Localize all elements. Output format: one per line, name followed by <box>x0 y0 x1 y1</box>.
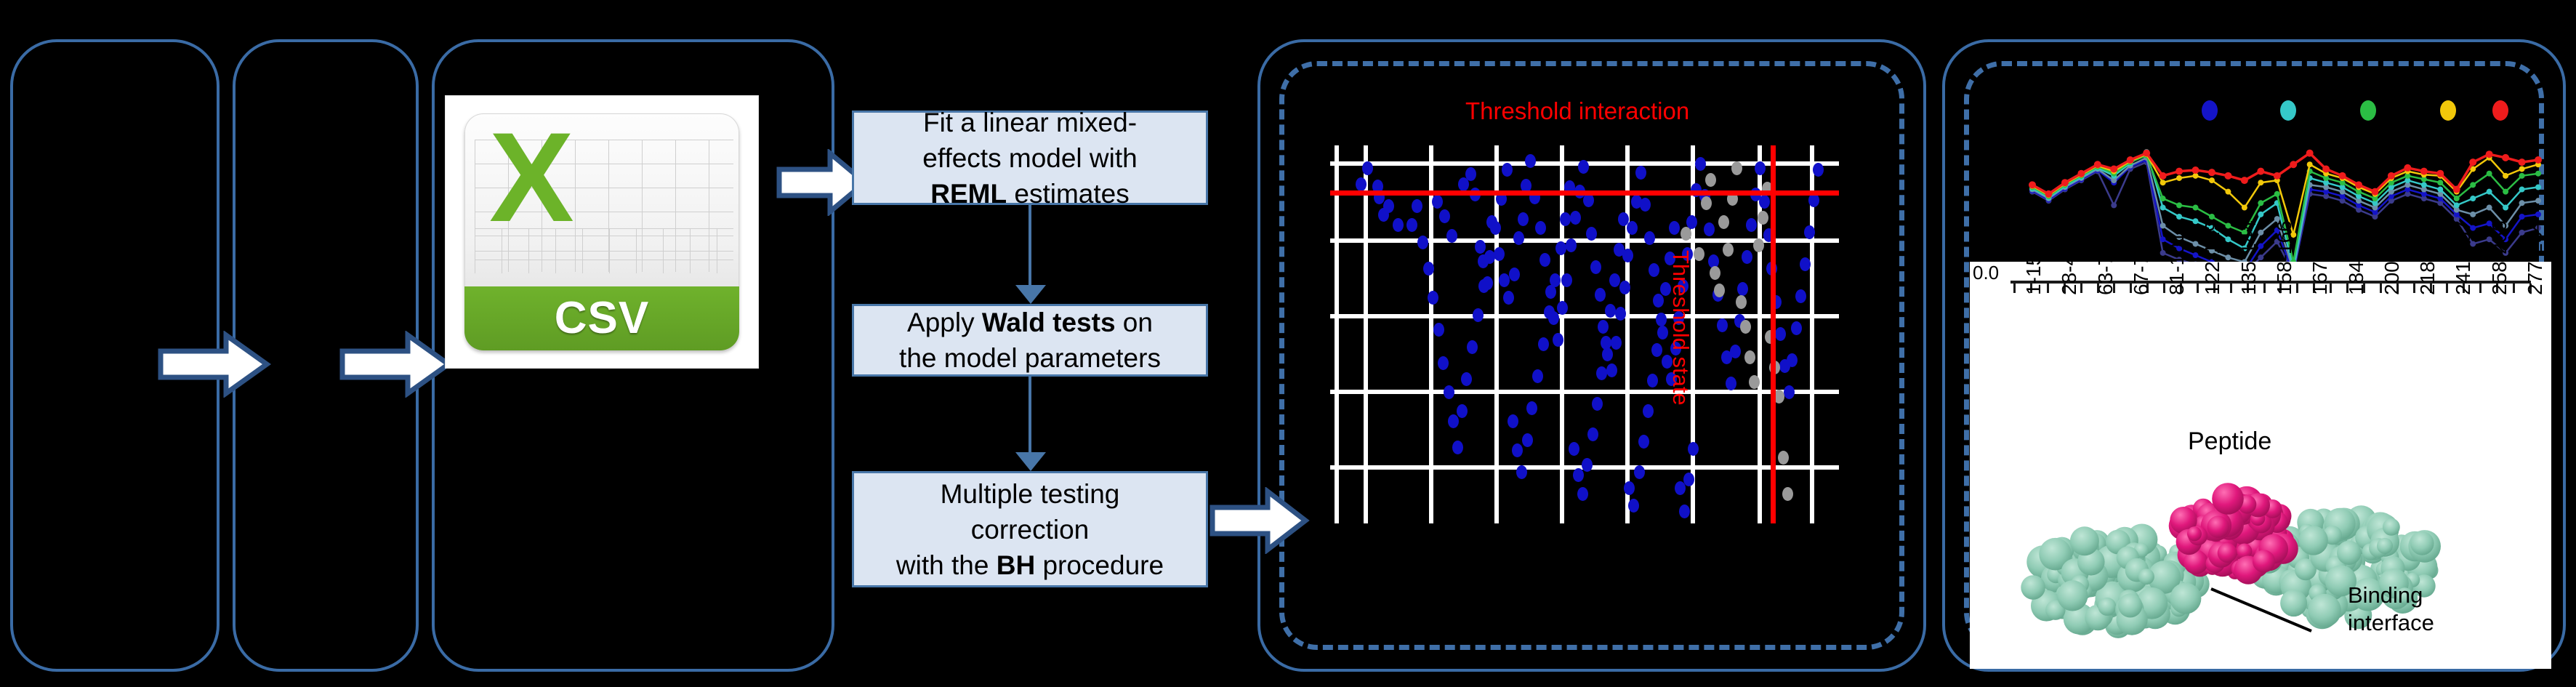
peptide-marker-red-22 <box>2388 172 2395 180</box>
scatter-point-blue-55 <box>1657 326 1668 340</box>
peptide-marker-red-13 <box>2241 177 2248 184</box>
peptide-marker-green-25 <box>2437 180 2443 185</box>
scatter-point-blue-120 <box>1550 273 1561 287</box>
peptide-marker-red-10 <box>2192 166 2199 174</box>
scatter-point-blue-74 <box>1737 282 1748 296</box>
scatter-point-blue-135 <box>1618 212 1629 226</box>
peptide-marker-red-9 <box>2175 168 2183 175</box>
scatter-point-blue-102 <box>1452 441 1463 454</box>
mt-line-2: correction <box>971 515 1089 545</box>
scatter-point-blue-89 <box>1800 257 1811 271</box>
peptide-marker-green-9 <box>2176 202 2182 208</box>
peptide-xlabel-13: 258-266 <box>2488 220 2511 295</box>
scatter-point-blue-54 <box>1653 294 1664 308</box>
scatter-point-grey-12 <box>1744 350 1755 364</box>
fit-model-line-1: Fit a linear mixed- <box>923 108 1137 137</box>
scatter-point-blue-113 <box>1512 443 1523 457</box>
peptide-tick-26 <box>2446 284 2448 293</box>
scatter-point-blue-121 <box>1555 241 1566 255</box>
protein-surface-blob <box>2253 550 2275 572</box>
peptide-legend-dot-1 <box>2280 100 2296 121</box>
peptide-xlabel-4: 81-101 <box>2165 232 2189 295</box>
multiple-testing-box: Multiple testing correction with the BH … <box>852 471 1208 587</box>
bh-term: BH <box>997 550 1035 580</box>
scatter-point-grey-1 <box>1694 247 1704 261</box>
peptide-xlabel-11: 218-237 <box>2416 220 2439 295</box>
protein-surface-blob <box>2138 569 2154 584</box>
protein-surface-blob <box>2377 538 2393 554</box>
peptide-marker-green-10 <box>2193 205 2199 211</box>
peptide-marker-yellow-14 <box>2258 180 2263 185</box>
peptide-marker-yellow-11 <box>2209 177 2215 183</box>
scatter-point-blue-119 <box>1544 305 1555 319</box>
protein-surface-blob <box>2207 516 2229 538</box>
scatter-point-blue-107 <box>1478 279 1489 293</box>
scatter-point-blue-111 <box>1502 163 1513 177</box>
scatter-point-blue-114 <box>1516 465 1527 479</box>
scatter-point-blue-127 <box>1582 458 1593 472</box>
protein-surface-blob <box>2098 598 2116 616</box>
scatter-point-blue-97 <box>1428 291 1438 305</box>
arrowhead-wald-to-bh <box>1015 452 1046 471</box>
scatter-point-blue-52 <box>1644 231 1655 245</box>
scatter-point-grey-3 <box>1705 173 1716 187</box>
scatter-point-blue-136 <box>1624 481 1635 495</box>
scatter-point-blue-24 <box>1525 154 1536 168</box>
wald-tests-term: Wald tests <box>982 308 1116 337</box>
multiple-testing-text: Multiple testing correction with the BH … <box>896 476 1164 583</box>
peptide-marker-cyan-27 <box>2470 196 2476 201</box>
protein-surface-blob <box>2118 593 2142 617</box>
scatter-point-blue-31 <box>1557 301 1568 315</box>
arrow-panel2-to-panel3 <box>338 331 454 398</box>
peptide-tick-17 <box>2296 284 2298 293</box>
peptide-marker-red-8 <box>2160 172 2167 180</box>
scatter-point-blue-141 <box>1647 374 1658 387</box>
peptide-marker-cyan-26 <box>2454 202 2460 208</box>
peptide-tick-24 <box>2413 284 2415 293</box>
scatter-point-blue-104 <box>1461 372 1472 386</box>
scatter-point-blue-140 <box>1643 404 1654 418</box>
peptide-marker-red-18 <box>2322 165 2330 172</box>
peptide-xlabel-7: 158-166 <box>2273 220 2296 295</box>
peptide-marker-yellow-9 <box>2176 175 2182 181</box>
scatter-point-blue-9 <box>1446 229 1457 243</box>
fit-model-text: Fit a linear mixed- effects model with R… <box>922 105 1137 212</box>
peptide-marker-steel-10 <box>2193 241 2199 246</box>
scatter-point-blue-75 <box>1742 250 1752 264</box>
scatter-point-blue-98 <box>1433 323 1444 337</box>
peptide-marker-darkpurple-5 <box>2111 202 2117 208</box>
scatter-point-blue-27 <box>1539 253 1550 267</box>
scatter-point-grey-13 <box>1749 375 1760 389</box>
peptide-marker-red-2 <box>2061 179 2069 186</box>
scatter-point-blue-1 <box>1362 161 1373 175</box>
protein-surface-blob <box>2212 483 2244 515</box>
peptide-marker-red-27 <box>2469 158 2476 166</box>
peptide-marker-green-11 <box>2209 214 2215 220</box>
scatter-point-blue-115 <box>1522 433 1533 447</box>
peptide-legend-dot-3 <box>2440 100 2456 121</box>
peptide-marker-yellow-8 <box>2160 180 2166 185</box>
scatter-point-blue-108 <box>1484 250 1495 264</box>
arrowhead-fit-to-wald <box>1015 285 1046 304</box>
peptide-marker-cyan-28 <box>2487 189 2492 195</box>
scatter-point-blue-44 <box>1611 336 1622 350</box>
scatter-point-blue-20 <box>1509 268 1520 281</box>
mt-line-1: Multiple testing <box>941 479 1120 509</box>
peptide-marker-yellow-13 <box>2242 205 2247 211</box>
peptide-marker-cyan-29 <box>2503 205 2508 211</box>
scatter-point-blue-150 <box>1688 442 1699 456</box>
peptide-marker-green-30 <box>2519 173 2525 179</box>
peptide-marker-red-17 <box>2306 150 2314 157</box>
peptide-tick-2 <box>2047 284 2049 293</box>
peptide-xlabel-14: 277-284 <box>2524 220 2547 295</box>
scatter-point-blue-131 <box>1601 336 1611 350</box>
peptide-marker-red-28 <box>2486 150 2493 158</box>
arrow-panel3-to-panel4 <box>1208 487 1310 554</box>
csv-icon-body: X CSV <box>464 113 739 350</box>
peptide-xlabel-12: 241-257 <box>2452 220 2475 295</box>
scatter-point-blue-142 <box>1651 343 1662 357</box>
scatter-point-blue-51 <box>1640 198 1651 212</box>
peptide-marker-yellow-29 <box>2503 173 2508 179</box>
scatter-point-grey-9 <box>1731 161 1742 175</box>
scatter-point-blue-8 <box>1439 209 1450 223</box>
protein-surface-blob <box>2337 541 2361 565</box>
scatter-point-grey-21 <box>1782 487 1793 501</box>
scatter-point-grey-7 <box>1723 243 1734 257</box>
protein-surface-blob <box>2410 531 2434 555</box>
scatter-point-blue-17 <box>1494 247 1505 261</box>
peptide-marker-green-31 <box>2535 171 2541 177</box>
fit-model-line-3-rest: estimates <box>1007 179 1130 209</box>
scatter-point-blue-146 <box>1669 221 1680 235</box>
peptide-xlabel-1: 28-44 <box>2058 243 2081 295</box>
peptide-marker-green-8 <box>2160 196 2166 201</box>
peptide-tick-30 <box>2513 284 2515 293</box>
pipeline-figure: X CSV Fit a linear mixed- effects model … <box>0 0 2576 687</box>
wald-tests-box: Apply Wald tests on the model parameters <box>852 304 1208 377</box>
binding-interface-annotation: Binding interface <box>2348 582 2434 637</box>
scatter-point-blue-71 <box>1726 377 1736 390</box>
wald-line-2: the model parameters <box>899 343 1161 373</box>
scatter-point-grey-14 <box>1753 238 1764 252</box>
peptide-marker-cyan-30 <box>2519 187 2525 193</box>
scatter-point-grey-2 <box>1701 196 1712 210</box>
scatter-point-blue-64 <box>1695 157 1706 171</box>
scatter-point-blue-78 <box>1755 161 1766 175</box>
scatter-point-blue-132 <box>1605 304 1616 318</box>
scatter-point-blue-42 <box>1602 347 1613 361</box>
scatter-point-blue-6 <box>1393 218 1404 232</box>
protein-surface-blob <box>2170 583 2201 614</box>
peptide-xlabel-3: 67-75 <box>2130 243 2153 295</box>
peptide-marker-green-15 <box>2274 191 2280 197</box>
scatter-point-blue-106 <box>1473 308 1484 322</box>
scatter-point-blue-40 <box>1595 288 1606 302</box>
csv-extension-label: CSV <box>464 286 739 350</box>
scatter-point-blue-122 <box>1560 212 1571 226</box>
peptide-marker-red-25 <box>2436 170 2444 177</box>
protein-surface-blob <box>2308 594 2341 627</box>
scatter-point-blue-129 <box>1592 397 1603 411</box>
scatter-point-blue-85 <box>1784 385 1795 399</box>
peptide-marker-cyan-9 <box>2176 214 2182 220</box>
peptide-marker-yellow-30 <box>2519 166 2525 172</box>
scatter-point-grey-6 <box>1718 215 1729 229</box>
peptide-marker-red-31 <box>2535 156 2542 164</box>
wald-line-1-pre: Apply <box>907 308 982 337</box>
scatter-point-blue-19 <box>1503 291 1514 305</box>
scatter-point-blue-92 <box>1813 163 1824 177</box>
scatter-point-blue-133 <box>1609 273 1620 287</box>
peptide-marker-steel-12 <box>2225 254 2231 260</box>
scatter-point-blue-34 <box>1570 211 1581 225</box>
fit-model-line-2: effects model with <box>922 143 1137 173</box>
peptide-marker-steel-31 <box>2535 198 2541 204</box>
fit-model-reml-term: REML <box>930 179 1007 209</box>
scatter-point-blue-50 <box>1635 166 1646 180</box>
peptide-marker-red-16 <box>2290 161 2297 168</box>
scatter-point-blue-138 <box>1634 465 1645 479</box>
mt-line-3-post: procedure <box>1035 550 1164 580</box>
peptide-marker-red-6 <box>2127 156 2134 164</box>
scatter-point-blue-94 <box>1412 199 1422 213</box>
scatter-point-blue-30 <box>1553 333 1563 347</box>
scatter-point-blue-87 <box>1791 321 1802 335</box>
peptide-axis-and-structure-card: 0.0 1-1528-4463-7367-7581-101122-129135-… <box>1970 262 2551 669</box>
fit-model-box: Fit a linear mixed- effects model with R… <box>852 111 1208 205</box>
scatter-point-blue-69 <box>1717 318 1728 332</box>
peptide-tick-13 <box>2230 284 2232 293</box>
peptide-xlabel-6: 135-144 <box>2237 220 2261 295</box>
peptide-marker-red-15 <box>2274 172 2281 180</box>
scatter-point-blue-139 <box>1638 435 1649 449</box>
peptide-marker-steel-30 <box>2519 200 2525 206</box>
scatter-point-blue-88 <box>1795 289 1806 303</box>
peptide-marker-steel-8 <box>2160 222 2166 228</box>
scatter-point-blue-112 <box>1508 414 1518 428</box>
peptide-xlabel-8: 167-180 <box>2309 220 2332 295</box>
scatter-point-blue-116 <box>1526 401 1537 415</box>
scatter-point-grey-10 <box>1736 295 1747 309</box>
peptide-marker-red-11 <box>2208 169 2215 176</box>
peptide-marker-blue-31 <box>2535 212 2541 217</box>
scatter-point-grey-5 <box>1714 284 1725 297</box>
scatter-point-blue-18 <box>1499 273 1510 287</box>
arrow-panel1-to-panel2 <box>156 331 273 398</box>
peptide-legend-dot-0 <box>2202 100 2218 121</box>
scatter-point-blue-125 <box>1573 468 1584 482</box>
peptide-xlabel-10: 200-214 <box>2380 220 2404 295</box>
binding-interface-line-2: interface <box>2348 609 2434 637</box>
peptide-marker-green-26 <box>2454 196 2460 201</box>
wald-tests-text: Apply Wald tests on the model parameters <box>899 305 1161 376</box>
scatter-point-blue-124 <box>1569 442 1579 456</box>
peptide-marker-red-24 <box>2420 168 2428 175</box>
scatter-point-blue-103 <box>1457 404 1468 418</box>
peptide-marker-blue-30 <box>2519 214 2525 220</box>
protein-surface-blob <box>2070 526 2099 555</box>
scatter-point-grey-15 <box>1758 211 1768 225</box>
peptide-marker-cyan-8 <box>2160 205 2166 211</box>
peptide-legend-dot-4 <box>2492 100 2508 121</box>
peptide-structure-figure: 0.0 1-1528-4463-7367-7581-101122-129135-… <box>1955 65 2551 647</box>
scatter-point-blue-76 <box>1746 218 1757 232</box>
threshold-scatter-plot: Threshold interaction Threshold state <box>1330 145 1839 523</box>
scatter-point-blue-41 <box>1598 320 1609 334</box>
wald-line-1-post: on <box>1116 308 1153 337</box>
peptide-xlabel-2: 63-73 <box>2094 243 2117 295</box>
peptide-marker-red-26 <box>2453 186 2460 193</box>
peptide-marker-blue-10 <box>2193 252 2199 258</box>
protein-surface-blob <box>2187 526 2202 541</box>
peptide-marker-yellow-17 <box>2307 161 2313 167</box>
scatter-point-grey-0 <box>1681 227 1691 241</box>
threshold-state-line <box>1771 145 1776 523</box>
peptide-marker-red-0 <box>2029 181 2036 188</box>
protein-surface-blob <box>2021 575 2045 600</box>
scatter-hgrid-2 <box>1330 314 1839 318</box>
scatter-point-blue-128 <box>1587 427 1598 441</box>
scatter-point-blue-39 <box>1590 260 1601 274</box>
scatter-point-grey-4 <box>1710 266 1720 280</box>
scatter-point-blue-90 <box>1804 225 1815 239</box>
peptide-marker-red-1 <box>2045 190 2052 198</box>
scatter-point-blue-86 <box>1787 353 1798 367</box>
scatter-point-blue-11 <box>1465 167 1476 181</box>
scatter-point-blue-36 <box>1578 160 1589 174</box>
scatter-point-blue-38 <box>1586 227 1597 241</box>
scatter-point-blue-13 <box>1475 240 1486 254</box>
protein-surface-blob <box>2218 543 2237 563</box>
peptide-legend-dot-2 <box>2360 100 2376 121</box>
peptide-marker-cyan-14 <box>2258 212 2263 217</box>
scatter-point-blue-117 <box>1532 369 1543 383</box>
scatter-point-blue-22 <box>1518 212 1529 226</box>
peptide-tick-28 <box>2479 284 2482 293</box>
peptide-marker-green-12 <box>2225 222 2231 228</box>
scatter-point-blue-95 <box>1417 236 1428 249</box>
scatter-point-blue-105 <box>1467 340 1478 354</box>
peptide-marker-red-29 <box>2502 154 2509 161</box>
peptide-marker-red-19 <box>2339 172 2346 180</box>
scatter-point-blue-53 <box>1649 263 1659 277</box>
peptide-marker-red-14 <box>2257 168 2264 175</box>
peptide-marker-cyan-25 <box>2437 187 2443 193</box>
protein-surface-blob <box>2280 590 2307 616</box>
peptide-marker-yellow-12 <box>2225 189 2231 195</box>
scatter-point-blue-148 <box>1679 505 1690 518</box>
excel-x-icon: X <box>489 135 575 230</box>
scatter-point-blue-45 <box>1615 307 1626 321</box>
scatter-point-blue-32 <box>1561 273 1572 287</box>
scatter-point-blue-93 <box>1406 218 1417 232</box>
scatter-point-blue-21 <box>1513 231 1524 245</box>
threshold-state-label: Threshold state <box>1667 250 1694 406</box>
scatter-point-blue-0 <box>1356 177 1367 191</box>
scatter-point-blue-66 <box>1704 222 1715 236</box>
scatter-point-grey-11 <box>1740 320 1751 334</box>
scatter-vgrid-5 <box>1625 145 1630 523</box>
peptide-marker-red-30 <box>2519 158 2526 166</box>
mt-line-3-pre: with the <box>896 550 997 580</box>
scatter-point-blue-137 <box>1628 499 1639 513</box>
scatter-point-blue-134 <box>1614 243 1625 257</box>
protein-surface-blob <box>2383 518 2400 536</box>
peptide-marker-red-4 <box>2094 161 2101 168</box>
peptide-marker-cyan-10 <box>2193 218 2199 224</box>
scatter-point-blue-96 <box>1423 262 1434 276</box>
scatter-point-blue-43 <box>1606 363 1617 377</box>
peptide-marker-green-29 <box>2503 189 2508 195</box>
peptide-marker-red-23 <box>2404 164 2411 172</box>
csv-file-icon: X CSV <box>446 96 758 368</box>
peptide-tick-11 <box>2197 284 2199 293</box>
scatter-point-blue-33 <box>1566 238 1577 252</box>
scatter-point-blue-149 <box>1683 473 1694 486</box>
peptide-marker-green-14 <box>2258 200 2263 206</box>
scatter-point-blue-101 <box>1448 414 1459 428</box>
scatter-vgrid-1 <box>1364 145 1368 523</box>
peptide-marker-steel-27 <box>2470 212 2476 217</box>
peptide-marker-green-28 <box>2487 171 2492 177</box>
scatter-point-blue-126 <box>1577 487 1588 501</box>
peptide-marker-red-5 <box>2110 165 2117 172</box>
peptide-marker-cyan-31 <box>2535 184 2541 190</box>
scatter-vgrid-0 <box>1335 145 1339 523</box>
threshold-interaction-line <box>1330 190 1839 196</box>
protein-surface-blob <box>2299 526 2328 555</box>
scatter-point-blue-118 <box>1538 337 1549 351</box>
peptide-marker-red-7 <box>2143 150 2150 157</box>
scatter-point-blue-72 <box>1730 345 1741 358</box>
scatter-hgrid-3 <box>1330 390 1839 394</box>
connector-wald-to-bh <box>1029 377 1031 454</box>
peptide-marker-red-12 <box>2224 172 2231 180</box>
peptide-marker-cyan-24 <box>2421 182 2427 188</box>
peptide-tick-0 <box>2013 284 2016 293</box>
scatter-point-blue-130 <box>1596 366 1607 380</box>
scatter-point-grey-20 <box>1778 451 1789 465</box>
protein-surface-blob <box>2057 580 2088 611</box>
scatter-point-blue-5 <box>1383 199 1394 213</box>
scatter-point-blue-46 <box>1619 281 1630 294</box>
y-axis-zero-label: 0.0 <box>1973 262 1999 284</box>
peptide-marker-red-3 <box>2077 170 2085 177</box>
peptide-xlabel-0: 1-15 <box>2022 254 2045 295</box>
peptide-axis-title: Peptide <box>2188 427 2271 456</box>
peptide-marker-cyan-12 <box>2225 236 2231 242</box>
scatter-point-blue-48 <box>1627 221 1638 235</box>
scatter-point-blue-100 <box>1444 385 1454 399</box>
binding-interface-line-1: Binding <box>2348 582 2434 609</box>
peptide-marker-red-21 <box>2371 188 2378 196</box>
scatter-point-blue-83 <box>1775 327 1786 341</box>
peptide-marker-red-20 <box>2355 181 2362 188</box>
connector-fit-to-wald <box>1029 205 1031 286</box>
peptide-xlabel-5: 122-129 <box>2201 220 2224 295</box>
scatter-point-blue-109 <box>1490 221 1501 235</box>
scatter-point-blue-7 <box>1432 195 1443 209</box>
threshold-interaction-label: Threshold interaction <box>1465 97 1689 125</box>
scatter-point-blue-26 <box>1535 221 1546 235</box>
scatter-point-blue-79 <box>1759 195 1770 209</box>
peptide-xlabel-9: 184-199 <box>2345 220 2368 295</box>
peptide-tick-15 <box>2263 284 2266 293</box>
